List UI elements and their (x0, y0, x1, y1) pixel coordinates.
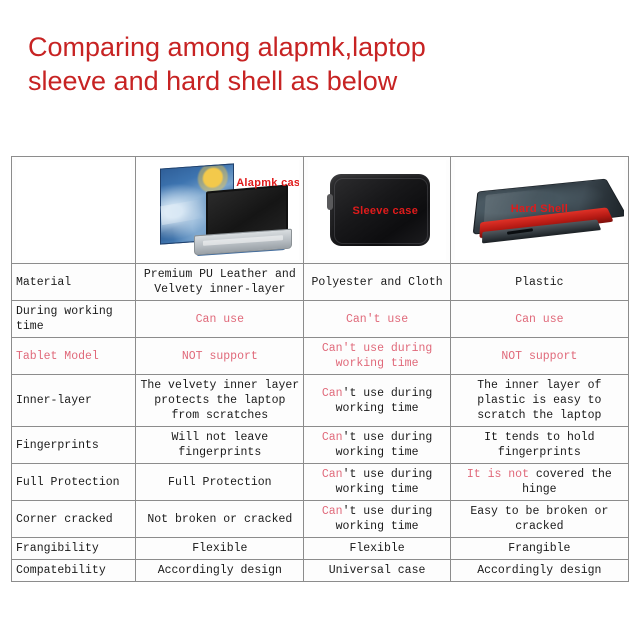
cell-text: Can't use during working time (322, 342, 432, 370)
table-cell: Can use (450, 301, 628, 338)
cell-text: Can (322, 505, 343, 518)
table-cell: Polyester and Cloth (304, 264, 450, 301)
table-cell: Can't use during working time (304, 501, 450, 538)
cell-text: Not broken or cracked (147, 513, 292, 526)
table-cell: Plastic (450, 264, 628, 301)
cell-text: NOT support (501, 350, 577, 363)
row-label-cell: Material (12, 264, 136, 301)
table-row: FingerprintsWill not leave fingerprintsC… (12, 427, 629, 464)
cell-text: Easy to be broken or cracked (470, 505, 608, 533)
table-cell: Frangible (450, 538, 628, 560)
table-cell: The inner layer of plastic is easy to sc… (450, 375, 628, 427)
row-label-cell: Frangibility (12, 538, 136, 560)
table-cell: Will not leave fingerprints (136, 427, 304, 464)
table-row: CompatebilityAccordingly designUniversal… (12, 560, 629, 582)
cell-text: It is not (467, 468, 536, 481)
cell-text: Frangible (508, 542, 570, 555)
row-label-text: Tablet Model (16, 350, 99, 363)
table-cell: It is not covered the hinge (450, 464, 628, 501)
product-image: Alapmk case (140, 160, 299, 260)
row-label-text: Frangibility (16, 542, 99, 555)
table-cell: Premium PU Leather and Velvety inner-lay… (136, 264, 304, 301)
cell-text: Plastic (515, 276, 563, 289)
cell-text: Can (322, 387, 343, 400)
row-label-cell: Compatebility (12, 560, 136, 582)
comparison-table: Alapmk case Sleeve case Hard ShellMateri… (11, 156, 629, 582)
cell-text: Accordingly design (158, 564, 282, 577)
row-label-text: During working time (16, 305, 113, 333)
cell-text: NOT support (182, 350, 258, 363)
table-cell: Can't use during working time (304, 338, 450, 375)
cell-text: Can (322, 431, 343, 444)
table-cell: The velvety inner layer protects the lap… (136, 375, 304, 427)
cell-text: Universal case (329, 564, 426, 577)
product-caption: Hard Shell (511, 202, 568, 217)
row-label-cell: Tablet Model (12, 338, 136, 375)
table-cell: Can't use during working time (304, 427, 450, 464)
row-label-text: Corner cracked (16, 513, 113, 526)
cell-text: Can (322, 468, 343, 481)
cell-text: 't use during working time (336, 387, 433, 415)
table-cell: Accordingly design (136, 560, 304, 582)
page-title: Comparing among alapmk,laptop sleeve and… (28, 30, 588, 98)
table-cell: Flexible (304, 538, 450, 560)
cell-text: Premium PU Leather and Velvety inner-lay… (144, 268, 296, 296)
cell-text: It tends to hold fingerprints (484, 431, 594, 459)
table-row: During working timeCan useCan't useCan u… (12, 301, 629, 338)
row-label-text: Fingerprints (16, 439, 99, 452)
table-cell: Accordingly design (450, 560, 628, 582)
table-row: Full ProtectionFull ProtectionCan't use … (12, 464, 629, 501)
table-cell: Can't use during working time (304, 375, 450, 427)
table-row: Tablet ModelNOT supportCan't use during … (12, 338, 629, 375)
cell-text: The velvety inner layer protects the lap… (140, 379, 299, 422)
row-label-cell: Full Protection (12, 464, 136, 501)
table-cell: Not broken or cracked (136, 501, 304, 538)
product-caption: Sleeve case (352, 204, 418, 219)
table-corner-cell (12, 157, 136, 264)
cell-text: Full Protection (168, 476, 272, 489)
cell-text: Can use (196, 313, 244, 326)
table-row: FrangibilityFlexibleFlexibleFrangible (12, 538, 629, 560)
row-label-cell: During working time (12, 301, 136, 338)
table-cell: Full Protection (136, 464, 304, 501)
product-image: Sleeve case (308, 160, 445, 260)
row-label-text: Material (16, 276, 71, 289)
table-cell: Easy to be broken or cracked (450, 501, 628, 538)
cell-text: Can use (515, 313, 563, 326)
cell-text: Flexible (349, 542, 404, 555)
row-label-text: Inner-layer (16, 394, 92, 407)
table-cell: Can't use during working time (304, 464, 450, 501)
row-label-cell: Inner-layer (12, 375, 136, 427)
table-cell: Universal case (304, 560, 450, 582)
cell-text: The inner layer of plastic is easy to sc… (477, 379, 601, 422)
cell-text: 't use during working time (336, 505, 433, 533)
row-label-cell: Corner cracked (12, 501, 136, 538)
table-cell: NOT support (450, 338, 628, 375)
table-cell: Can't use (304, 301, 450, 338)
cell-text: Will not leave fingerprints (172, 431, 269, 459)
cell-text: Accordingly design (477, 564, 601, 577)
table-row: Corner crackedNot broken or crackedCan't… (12, 501, 629, 538)
cell-text: 't use during working time (336, 431, 433, 459)
cell-text: Flexible (192, 542, 247, 555)
cell-text: 't use during working time (336, 468, 433, 496)
product-header-cell: Hard Shell (450, 157, 628, 264)
product-header-cell: Alapmk case (136, 157, 304, 264)
table-cell: NOT support (136, 338, 304, 375)
cell-text: Can't use (346, 313, 408, 326)
page-title-line-2: sleeve and hard shell as below (28, 64, 588, 98)
product-header-cell: Sleeve case (304, 157, 450, 264)
product-caption: Alapmk case (236, 176, 299, 191)
cell-text: Polyester and Cloth (312, 276, 443, 289)
table-cell: Can use (136, 301, 304, 338)
row-label-text: Compatebility (16, 564, 106, 577)
table-row: MaterialPremium PU Leather and Velvety i… (12, 264, 629, 301)
table-cell: It tends to hold fingerprints (450, 427, 628, 464)
table-row: Inner-layerThe velvety inner layer prote… (12, 375, 629, 427)
page-title-line-1: Comparing among alapmk,laptop (28, 30, 588, 64)
row-label-text: Full Protection (16, 476, 120, 489)
cell-text: covered the hinge (522, 468, 612, 496)
table-cell: Flexible (136, 538, 304, 560)
row-label-cell: Fingerprints (12, 427, 136, 464)
table-header-row: Alapmk case Sleeve case Hard Shell (12, 157, 629, 264)
product-image: Hard Shell (455, 160, 624, 260)
